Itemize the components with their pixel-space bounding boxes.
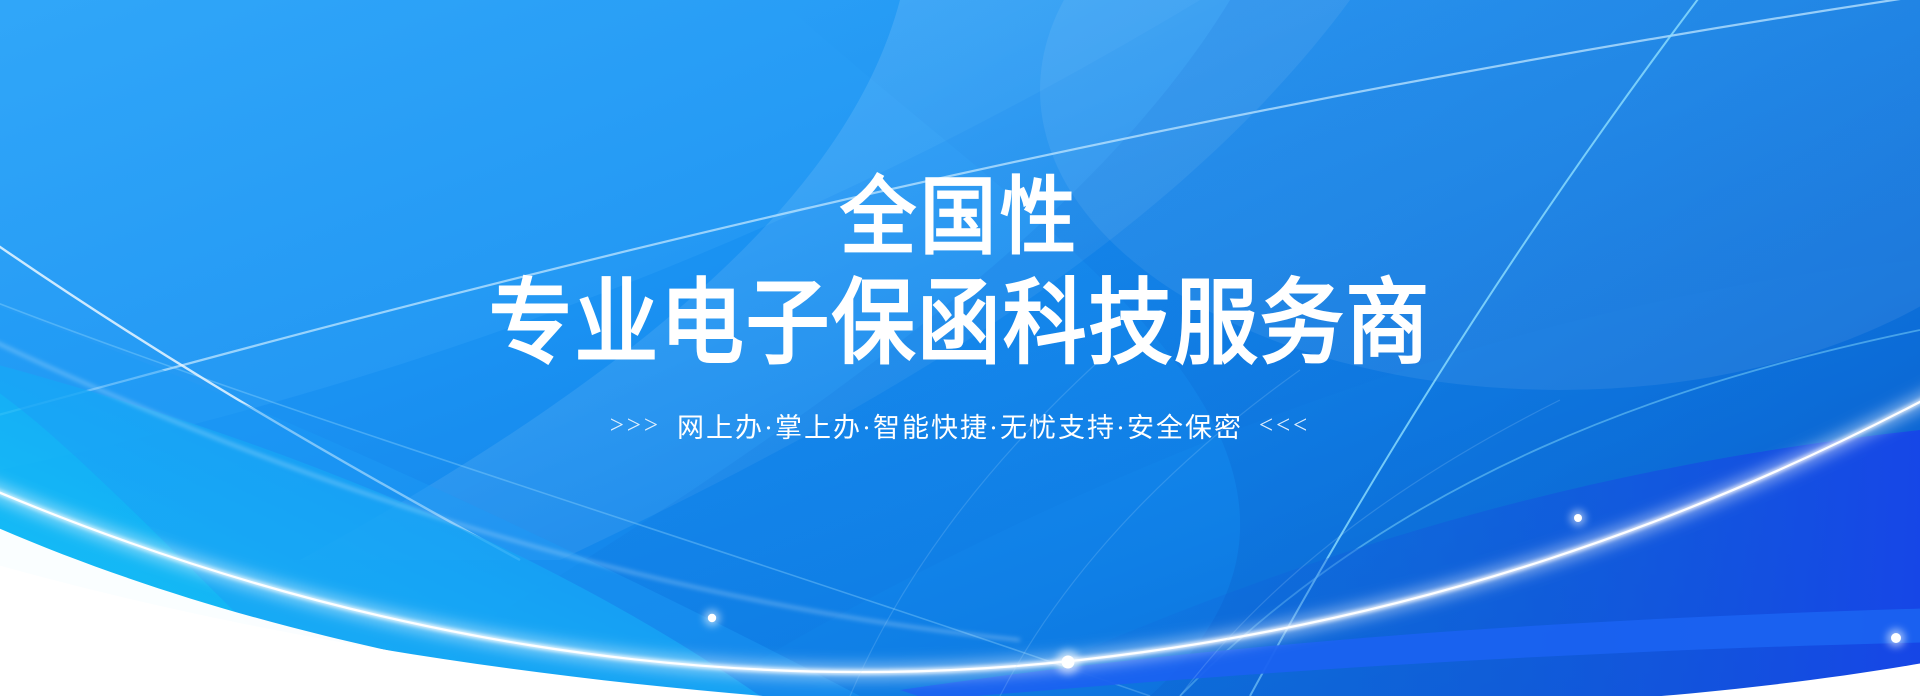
node-dot-2 <box>1062 656 1075 669</box>
node-dot-1 <box>708 614 716 622</box>
promo-banner: 全国性 专业电子保函科技服务商 >>> 网上办·掌上办·智能快捷·无忧支持·安全… <box>0 0 1920 696</box>
node-dot-3 <box>1574 514 1582 522</box>
node-dot-4 <box>1891 633 1901 643</box>
banner-background <box>0 0 1920 696</box>
